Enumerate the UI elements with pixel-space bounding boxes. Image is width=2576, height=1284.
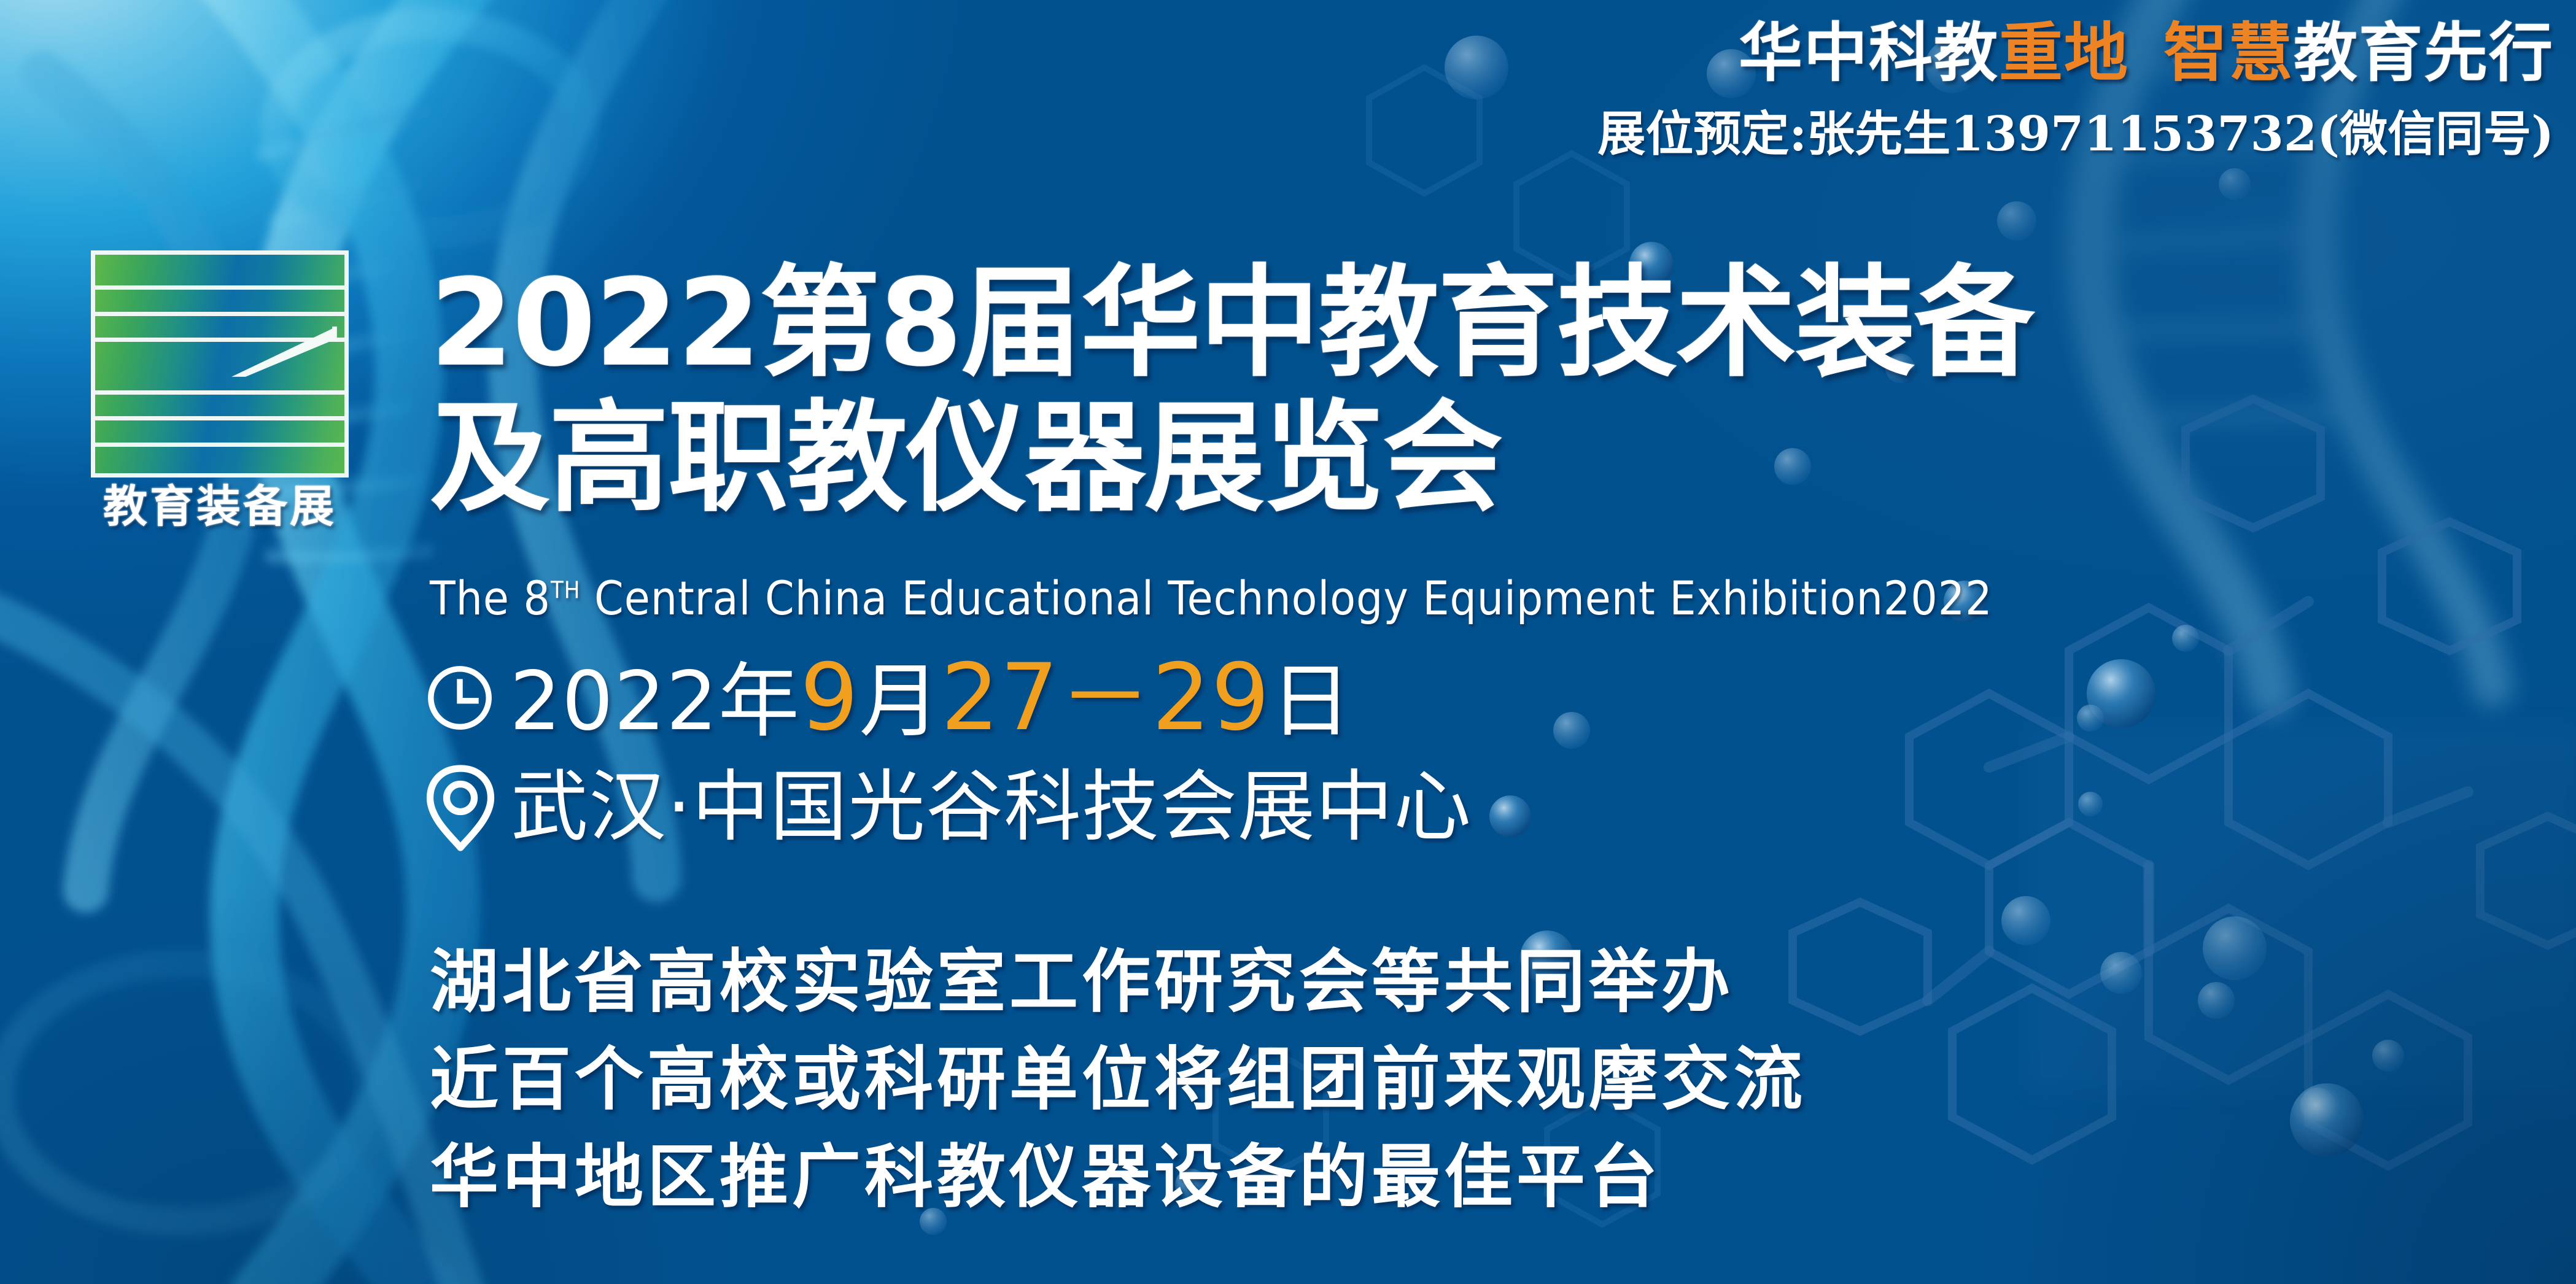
kv-headline: 华中科教重地智慧教育先行 [1739,17,2554,88]
clock-icon [424,662,496,734]
main-title: 2022第8届华中教育技术装备 及高职教仪器展览会 [430,257,2517,526]
main-title-line-1: 2022第8届华中教育技术装备 [430,257,2517,392]
date-day-range: 27－29 [941,644,1270,751]
logo-wordmark: 教育装备展 [91,484,349,530]
highlight-item: 湖北省高校实验室工作研究会等共同举办 [430,933,1806,1031]
subtitle-english: The 8TH Central China Educational Techno… [430,571,1993,625]
kv-headline-part3: 智慧 [2163,15,2294,90]
kv-headline-part2: 重地 [1999,15,2129,90]
highlights-list: 湖北省高校实验室工作研究会等共同举办 近百个高校或科研单位将组团前来观摩交流 华… [430,933,1806,1226]
date-year: 2022年 [510,654,800,749]
venue-text: 武汉·中国光谷科技会展中心 [511,768,1472,846]
date-month-number: 9 [800,644,859,751]
venue-row: 武汉·中国光谷科技会展中心 [424,761,1472,853]
date-row: 2022年9月27－29日 [424,652,1352,744]
booth-contact-line: 展位预定:张先生13971153732(微信同号) [1597,104,2554,164]
logo-z-stroke-icon [220,327,337,381]
kv-headline-part4: 教育先行 [2294,15,2554,90]
map-pin-icon [424,761,497,853]
date-day-unit: 日 [1270,654,1352,749]
highlight-item: 华中地区推广科教仪器设备的最佳平台 [430,1128,1806,1226]
main-title-line-2: 及高职教仪器展览会 [430,392,2517,527]
logo-block: 教育装备展 [91,250,349,530]
subtitle-en-ordinal: TH [551,577,580,604]
subtitle-en-post: Central China Educational Technology Equ… [580,571,1992,625]
exhibition-poster: 华中科教重地智慧教育先行 展位预定:张先生13971153732(微信同号) 教… [0,0,2576,1284]
date-text: 2022年9月27－29日 [510,652,1352,744]
kv-headline-part1: 华中科教 [1739,15,1999,90]
date-month-unit: 月 [859,654,941,749]
education-equipment-logo-icon [91,250,349,478]
highlight-item: 近百个高校或科研单位将组团前来观摩交流 [430,1031,1806,1128]
subtitle-en-pre: The 8 [430,571,551,625]
